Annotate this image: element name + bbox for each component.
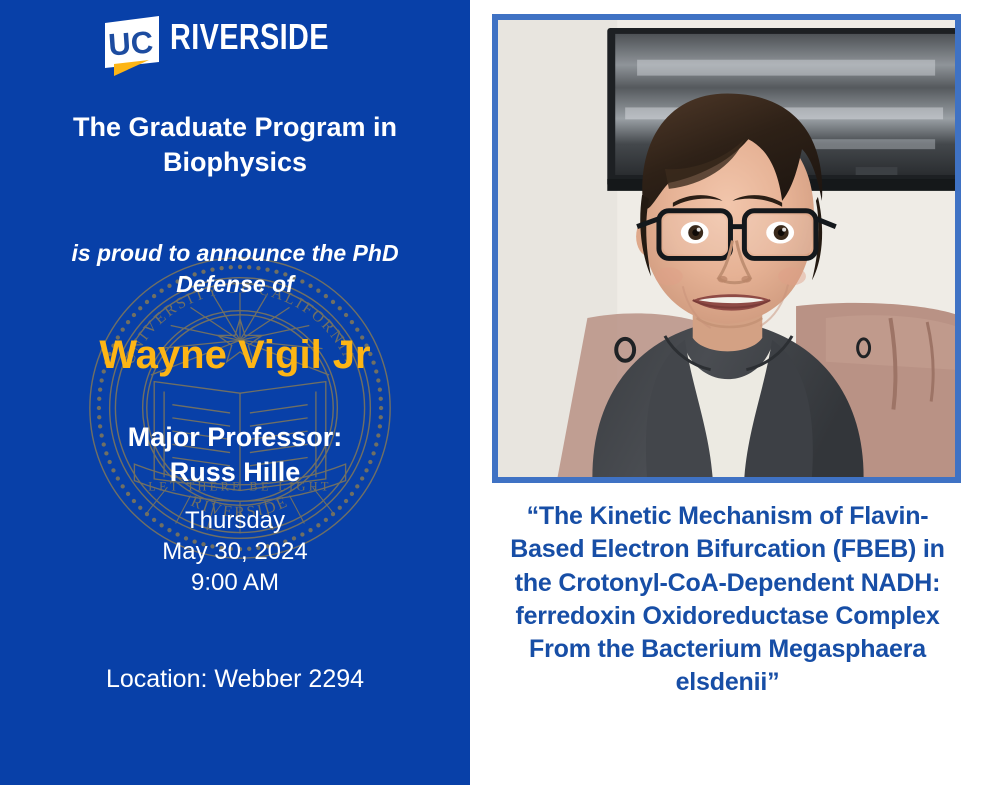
candidate-name: Wayne Vigil Jr <box>10 334 460 376</box>
thesis-title: “The Kinetic Mechanism of Flavin-Based E… <box>490 500 965 700</box>
right-content-panel: “The Kinetic Mechanism of Flavin-Based E… <box>470 0 985 785</box>
defense-announcement-poster: UNIVERSITY OF CALIFORNIA RIVERSIDE <box>0 0 985 785</box>
uc-shield-icon: UC <box>101 14 163 76</box>
left-info-panel: UNIVERSITY OF CALIFORNIA RIVERSIDE <box>0 0 470 785</box>
candidate-photo-frame <box>492 14 961 483</box>
defense-time: 9:00 AM <box>25 567 445 598</box>
datetime-block: Thursday May 30, 2024 9:00 AM <box>25 505 445 599</box>
advisor-block: Major Professor: Russ Hille <box>25 420 445 489</box>
candidate-photo <box>498 20 955 477</box>
announcement-text: is proud to announce the PhD Defense of <box>25 238 445 300</box>
location-line: Location: Webber 2294 <box>25 665 445 694</box>
day-of-week: Thursday <box>25 505 445 536</box>
ucr-logo: UC RIVERSIDE <box>0 14 470 76</box>
advisor-label: Major Professor: <box>25 420 445 455</box>
defense-date: May 30, 2024 <box>25 536 445 567</box>
ucr-wordmark: RIVERSIDE <box>170 19 329 55</box>
advisor-name: Russ Hille <box>25 455 445 490</box>
program-headline: The Graduate Program in Biophysics <box>25 110 445 179</box>
svg-text:UC: UC <box>107 24 154 62</box>
